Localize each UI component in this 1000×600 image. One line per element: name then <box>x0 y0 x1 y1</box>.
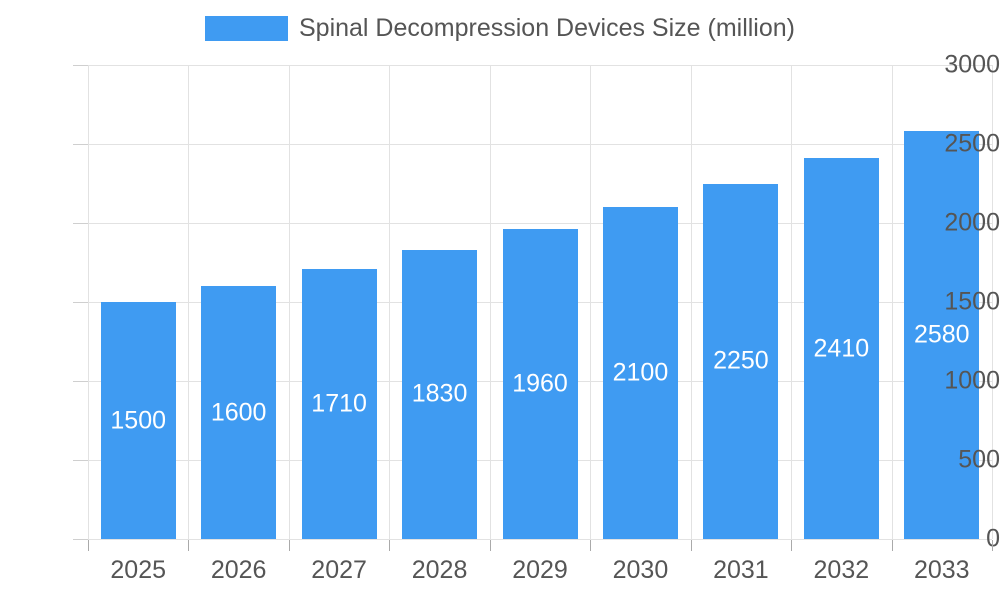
bar-value-label: 1830 <box>402 382 477 407</box>
bar-value-label: 1960 <box>503 372 578 397</box>
gridline-vertical <box>88 65 89 539</box>
gridline-vertical <box>289 65 290 539</box>
y-axis-tick-label: 0 <box>934 527 1000 552</box>
x-axis-tick <box>590 540 591 551</box>
y-axis-tick-label: 3000 <box>934 53 1000 78</box>
x-axis-tick <box>892 540 893 551</box>
bar[interactable]: 1710 <box>302 269 377 539</box>
x-axis-tick <box>389 540 390 551</box>
y-axis-tick <box>73 65 88 66</box>
bar-value-label: 1710 <box>302 391 377 416</box>
chart-legend: Spinal Decompression Devices Size (milli… <box>0 0 1000 56</box>
legend-item-spinal-decompression-devices-size[interactable]: Spinal Decompression Devices Size (milli… <box>205 16 795 41</box>
gridline-horizontal <box>88 65 992 66</box>
bar-value-label: 2580 <box>904 323 979 348</box>
y-axis-tick <box>73 223 88 224</box>
gridline-vertical <box>791 65 792 539</box>
bar-value-label: 2100 <box>603 361 678 386</box>
x-axis-tick <box>992 540 993 551</box>
x-axis-tick <box>88 540 89 551</box>
y-axis-tick-label: 1500 <box>934 290 1000 315</box>
bar-value-label: 1600 <box>201 400 276 425</box>
gridline-vertical <box>892 65 893 539</box>
y-axis-tick <box>73 539 88 540</box>
bar[interactable]: 2580 <box>904 131 979 539</box>
x-axis-tick <box>791 540 792 551</box>
y-axis-tick <box>73 302 88 303</box>
y-axis-tick-label: 2000 <box>934 211 1000 236</box>
bar-value-label: 2250 <box>703 349 778 374</box>
bar-value-label: 2410 <box>804 336 879 361</box>
x-axis-tick-label: 2033 <box>882 558 1000 583</box>
y-axis-tick <box>73 144 88 145</box>
bar[interactable]: 2250 <box>703 184 778 540</box>
bar-chart: Spinal Decompression Devices Size (milli… <box>0 0 1000 600</box>
legend-item-label: Spinal Decompression Devices Size (milli… <box>299 16 795 41</box>
x-axis-tick <box>691 540 692 551</box>
y-axis-tick <box>73 381 88 382</box>
legend-color-swatch-icon <box>205 16 288 41</box>
gridline-horizontal <box>88 144 992 145</box>
bar[interactable]: 2410 <box>804 158 879 539</box>
gridline-vertical <box>389 65 390 539</box>
gridline-vertical <box>691 65 692 539</box>
bar[interactable]: 1600 <box>201 286 276 539</box>
bar[interactable]: 2100 <box>603 207 678 539</box>
gridline-vertical <box>490 65 491 539</box>
y-axis-tick <box>73 460 88 461</box>
bar-value-label: 1500 <box>101 408 176 433</box>
x-axis-tick <box>188 540 189 551</box>
bar[interactable]: 1830 <box>402 250 477 539</box>
plot-area: 150016001710183019602100225024102580 <box>88 65 992 539</box>
bar[interactable]: 1960 <box>503 229 578 539</box>
gridline-vertical <box>188 65 189 539</box>
y-axis-tick-label: 500 <box>934 448 1000 473</box>
x-axis-tick <box>289 540 290 551</box>
gridline-horizontal <box>88 539 992 540</box>
gridline-vertical <box>590 65 591 539</box>
bar[interactable]: 1500 <box>101 302 176 539</box>
y-axis-tick-label: 2500 <box>934 132 1000 157</box>
x-axis-tick <box>490 540 491 551</box>
y-axis-tick-label: 1000 <box>934 369 1000 394</box>
